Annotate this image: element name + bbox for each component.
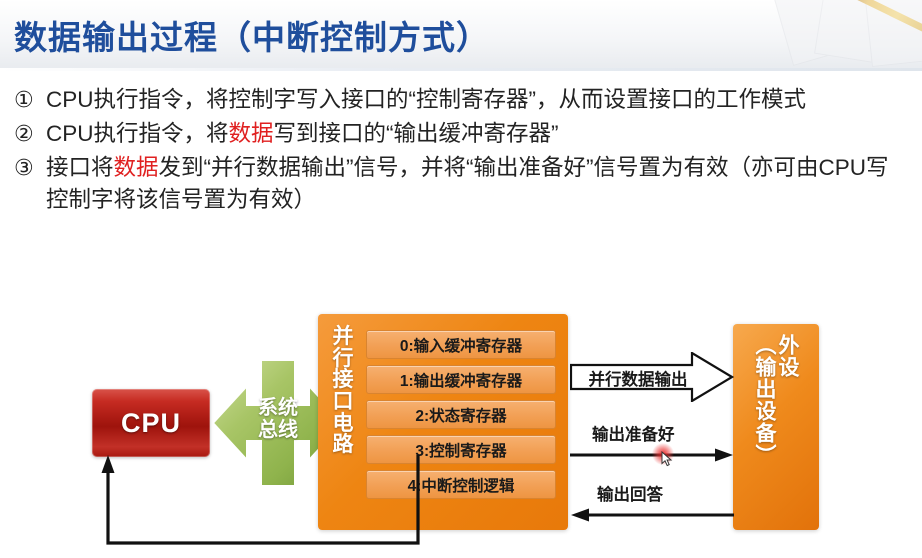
architecture-diagram: CPU 系统 总线 并行接口电路 xyxy=(0,300,922,558)
list-item-text: CPU执行指令，将控制字写入接口的“控制寄存器”，从而设置接口的工作模式 xyxy=(46,84,910,116)
pencil-and-papers-icon xyxy=(772,0,922,72)
list-item: ① CPU执行指令，将控制字写入接口的“控制寄存器”，从而设置接口的工作模式 xyxy=(14,84,910,116)
list-item: ② CPU执行指令，将数据写到接口的“输出缓冲寄存器” xyxy=(14,118,910,150)
peripheral-label-paren: （输出设备） xyxy=(754,334,775,520)
slide-header: 数据输出过程（中断控制方式） xyxy=(0,0,922,70)
output-ack-label: 输出回答 xyxy=(597,481,663,505)
output-ready-label: 输出准备好 xyxy=(592,421,675,445)
cpu-block-label: CPU xyxy=(121,408,181,439)
peripheral-device-block: 外设 （输出设备） xyxy=(733,324,819,530)
highlight-text: 数据 xyxy=(229,121,274,146)
peripheral-label-main: 外设 xyxy=(777,334,798,520)
list-item-marker: ② xyxy=(14,118,46,149)
register-row[interactable]: 0:输入缓冲寄存器 xyxy=(366,330,556,359)
bullet-list: ① CPU执行指令，将控制字写入接口的“控制寄存器”，从而设置接口的工作模式 ②… xyxy=(14,84,910,218)
list-item-marker: ③ xyxy=(14,152,46,183)
output-ready-arrow xyxy=(570,448,734,462)
register-row[interactable]: 1:输出缓冲寄存器 xyxy=(366,365,556,394)
list-item-marker: ① xyxy=(14,84,46,115)
list-item-text: CPU执行指令，将数据写到接口的“输出缓冲寄存器” xyxy=(46,118,910,150)
list-item-text: 接口将数据发到“并行数据输出”信号，并将“输出准备好”信号置为有效（亦可由CPU… xyxy=(46,152,910,216)
header-divider xyxy=(0,68,922,71)
slide-canvas: 数据输出过程（中断控制方式） ① CPU执行指令，将控制字写入接口的“控制寄存器… xyxy=(0,0,922,558)
register-row[interactable]: 2:状态寄存器 xyxy=(366,400,556,429)
page-title: 数据输出过程（中断控制方式） xyxy=(14,11,490,59)
peripheral-device-label: 外设 （输出设备） xyxy=(733,334,819,520)
cpu-block: CPU xyxy=(92,389,210,457)
parallel-data-out-arrow: 并行数据输出 xyxy=(570,352,734,402)
interrupt-request-line xyxy=(100,455,460,550)
parallel-interface-label: 并行接口电路 xyxy=(326,326,360,456)
list-item: ③ 接口将数据发到“并行数据输出”信号，并将“输出准备好”信号置为有效（亦可由C… xyxy=(14,152,910,216)
output-ack-arrow xyxy=(570,508,734,522)
highlight-text: 数据 xyxy=(114,155,159,180)
